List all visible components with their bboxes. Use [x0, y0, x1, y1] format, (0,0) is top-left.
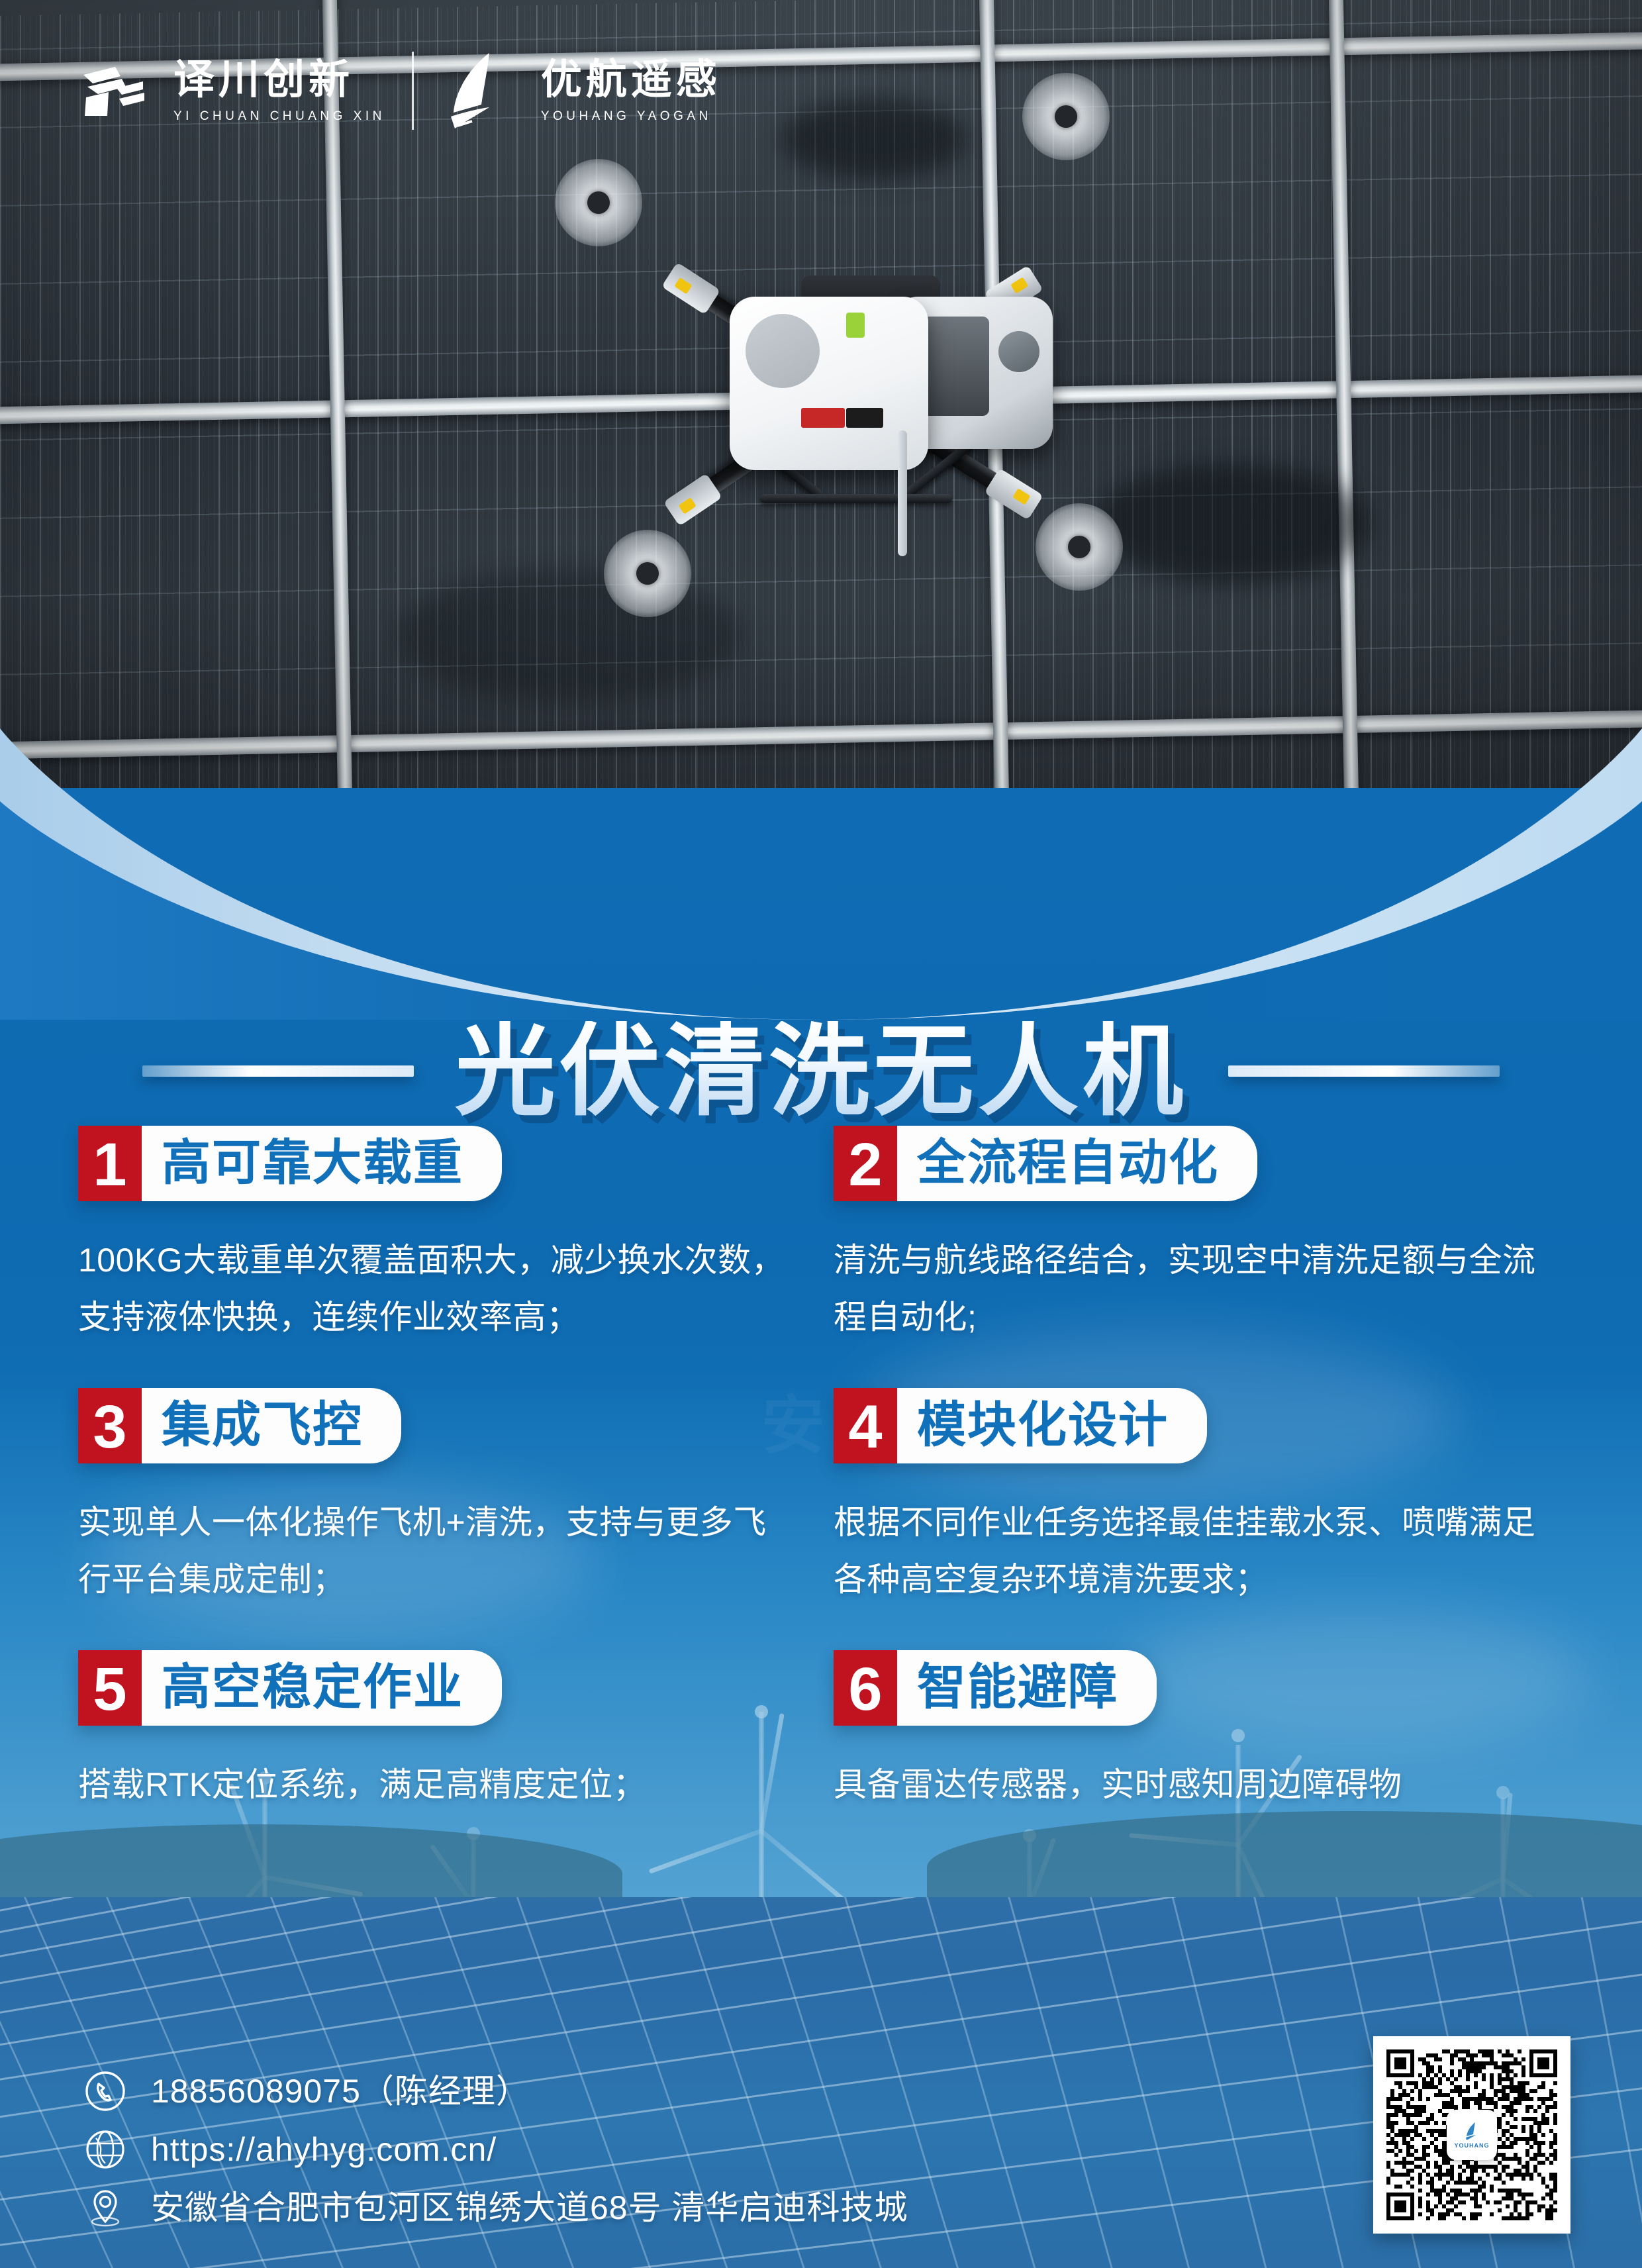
contact-phone-text: 18856089075（陈经理） [151, 2073, 530, 2110]
feature-body-text-1: 100KG大载重单次覆盖面积大，减少换水次数，支持液体快换，连续作业效率高； [78, 1232, 793, 1346]
title-rule-left [142, 1065, 414, 1077]
footer-bar: 18856089075（陈经理） https://ahyhyg.com.cn/ [0, 2003, 1642, 2268]
youhang-brand-text: 优航遥感 YOUHANG YAOGAN [541, 60, 721, 123]
feature-body-3: 实现单人一体化操作飞机+清洗，支持与更多飞行平台集成定制； [78, 1494, 793, 1608]
feature-header-2: 2 全流程自动化 [834, 1126, 1257, 1201]
feature-body-text-6: 具备雷达传感器，实时感知周边障碍物 [834, 1756, 1549, 1813]
phone-icon [85, 2071, 126, 2112]
yichuan-brand-en: YI CHUAN CHUANG XIN [173, 110, 385, 123]
feature-body-2: 清洗与航线路径结合，实现空中清洗足额与全流程自动化; [834, 1232, 1549, 1346]
feature-title-4: 模块化设计 [897, 1388, 1207, 1463]
feature-title-1: 高可靠大载重 [142, 1126, 502, 1201]
feature-item-4: 4 模块化设计 根据不同作业任务选择最佳挂载水泵、喷嘴满足各种高空复杂环境清洗要… [834, 1388, 1564, 1650]
feature-grid: 1 高可靠大载重 100KG大载重单次覆盖面积大，减少换水次数，支持液体快换，连… [0, 1126, 1642, 1855]
youhang-brand-cn: 优航遥感 [541, 60, 721, 101]
feature-header-1: 1 高可靠大载重 [78, 1126, 502, 1201]
contact-block: 18856089075（陈经理） https://ahyhyg.com.cn/ [85, 2071, 908, 2228]
feature-body-5: 搭载RTK定位系统，满足高精度定位； [78, 1756, 793, 1813]
feature-header-3: 3 集成飞控 [78, 1388, 401, 1463]
feature-number-6: 6 [834, 1650, 897, 1726]
feature-title-3: 集成飞控 [142, 1388, 401, 1463]
yichuan-logo-mark [78, 62, 147, 120]
feature-header-5: 5 高空稳定作业 [78, 1650, 502, 1726]
feature-body-text-4: 根据不同作业任务选择最佳挂载水泵、喷嘴满足各种高空复杂环境清洗要求； [834, 1494, 1549, 1608]
location-pin-icon [85, 2187, 126, 2228]
brand-divider [412, 52, 414, 130]
header-bar: 译川创新 YI CHUAN CHUANG XIN 优航遥感 YOUHANG YA… [0, 0, 1642, 166]
logo-lockup: 译川创新 YI CHUAN CHUANG XIN 优航遥感 YOUHANG YA… [78, 52, 721, 130]
youhang-sail-mini-icon [1464, 2122, 1480, 2140]
yichuan-brand-text: 译川创新 YI CHUAN CHUANG XIN [173, 60, 385, 123]
feature-item-6: 6 智能避障 具备雷达传感器，实时感知周边障碍物 [834, 1650, 1564, 1855]
yichuan-brand-cn: 译川创新 [173, 60, 385, 101]
feature-body-text-5: 搭载RTK定位系统，满足高精度定位； [78, 1756, 793, 1813]
feature-number-5: 5 [78, 1650, 142, 1726]
contact-row-address[interactable]: 安徽省合肥市包河区锦绣大道68号 清华启迪科技城 [85, 2187, 908, 2228]
feature-number-2: 2 [834, 1126, 897, 1201]
pv-row-line [0, 1897, 1642, 1931]
feature-body-1: 100KG大载重单次覆盖面积大，减少换水次数，支持液体快换，连续作业效率高； [78, 1232, 793, 1346]
globe-icon [85, 2129, 126, 2170]
feature-body-text-2: 清洗与航线路径结合，实现空中清洗足额与全流程自动化; [834, 1232, 1549, 1346]
feature-number-4: 4 [834, 1388, 897, 1463]
feature-title-6: 智能避障 [897, 1650, 1157, 1726]
title-rule-right [1228, 1065, 1500, 1077]
feature-title-5: 高空稳定作业 [142, 1650, 502, 1726]
contact-row-website[interactable]: https://ahyhyg.com.cn/ [85, 2129, 908, 2170]
feature-body-6: 具备雷达传感器，实时感知周边障碍物 [834, 1756, 1549, 1813]
feature-item-2: 2 全流程自动化 清洗与航线路径结合，实现空中清洗足额与全流程自动化; [834, 1126, 1564, 1388]
feature-header-6: 6 智能避障 [834, 1650, 1157, 1726]
feature-number-1: 1 [78, 1126, 142, 1201]
qr-center-logo: YOUHANG [1447, 2110, 1497, 2160]
feature-item-1: 1 高可靠大载重 100KG大载重单次覆盖面积大，减少换水次数，支持液体快换，连… [78, 1126, 808, 1388]
feature-item-5: 5 高空稳定作业 搭载RTK定位系统，满足高精度定位； [78, 1650, 808, 1855]
feature-body-text-3: 实现单人一体化操作飞机+清洗，支持与更多飞行平台集成定制； [78, 1494, 793, 1608]
contact-address-text: 安徽省合肥市包河区锦绣大道68号 清华启迪科技城 [151, 2189, 908, 2226]
contact-row-phone[interactable]: 18856089075（陈经理） [85, 2071, 908, 2112]
pv-row-line [0, 1897, 1642, 1946]
wechat-qr-code[interactable]: YOUHANG [1373, 2036, 1570, 2234]
feature-body-4: 根据不同作业任务选择最佳挂载水泵、喷嘴满足各种高空复杂环境清洗要求； [834, 1494, 1549, 1608]
youhang-brand-en: YOUHANG YAOGAN [541, 110, 721, 123]
feature-header-4: 4 模块化设计 [834, 1388, 1207, 1463]
contact-website-text: https://ahyhyg.com.cn/ [151, 2131, 497, 2168]
page-title: 光伏清洗无人机 [455, 1021, 1187, 1122]
feature-item-3: 3 集成飞控 实现单人一体化操作飞机+清洗，支持与更多飞行平台集成定制； [78, 1388, 808, 1650]
qr-logo-text: YOUHANG [1454, 2142, 1489, 2149]
feature-title-2: 全流程自动化 [897, 1126, 1257, 1201]
youhang-sail-mark [440, 52, 514, 130]
feature-number-3: 3 [78, 1388, 142, 1463]
poster-root: 译川创新 YI CHUAN CHUANG XIN 优航遥感 YOUHANG YA… [0, 0, 1642, 2268]
